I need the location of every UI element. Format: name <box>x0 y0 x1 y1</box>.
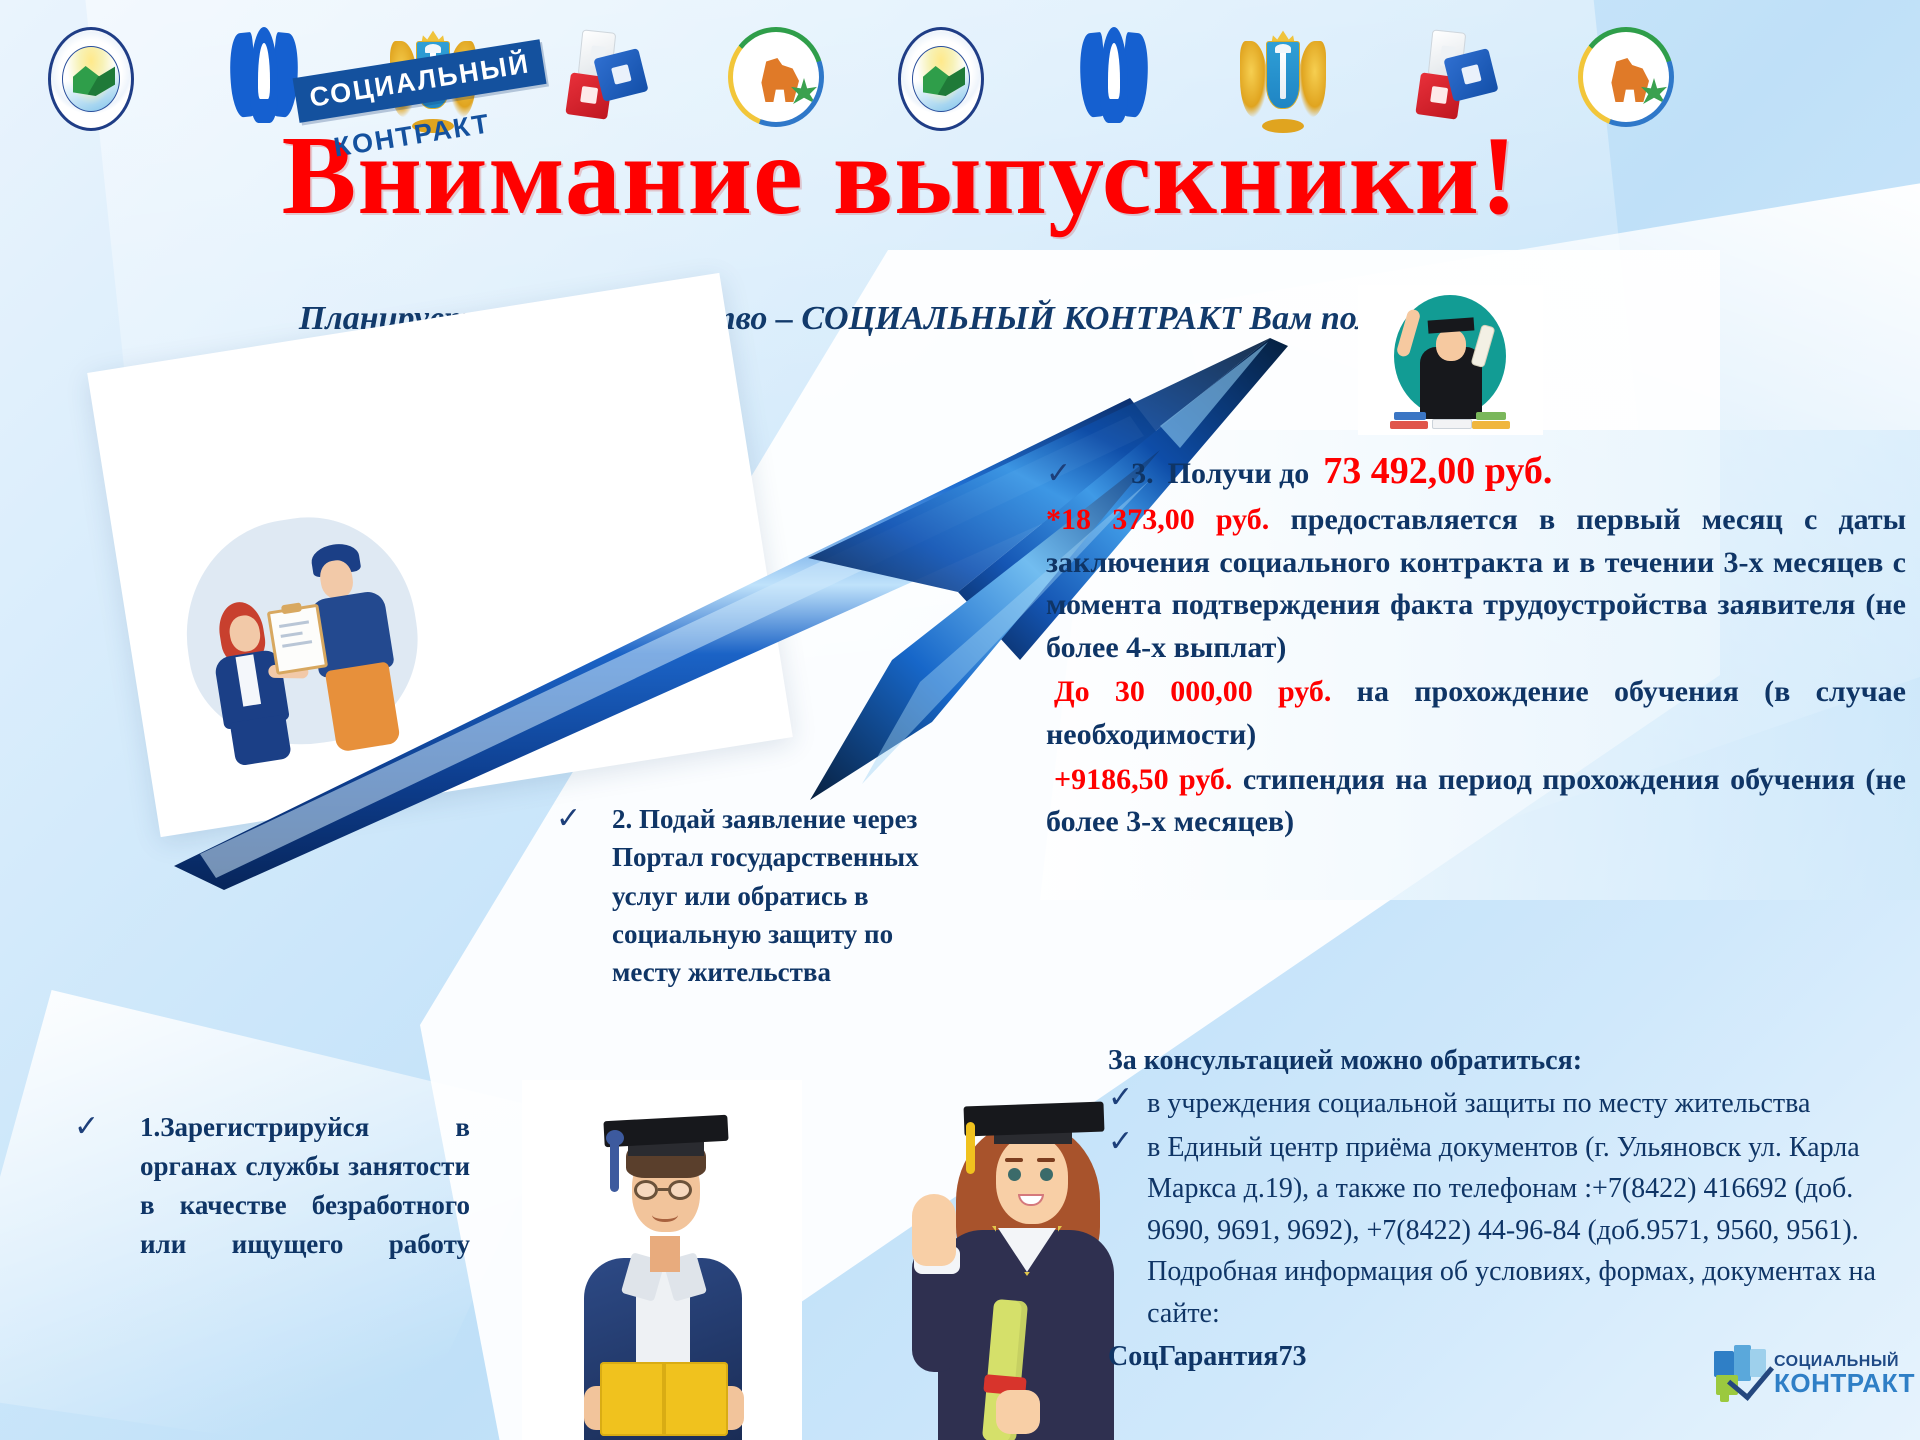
consultation-item-1-text: в учреждения социальной защиты по месту … <box>1147 1083 1898 1124</box>
step-2-check-icon: ✓ <box>556 804 581 834</box>
step-3-paragraph-3: +9186,50 руб. стипендия на период прохож… <box>1046 759 1906 844</box>
step-2-text: 2. Подай заявление через Портал государс… <box>612 804 919 987</box>
step-3-payment-block: ✓ 3. Получи до 73 492,00 руб. *18 373,00… <box>1046 445 1906 846</box>
step-1-check-icon: ✓ <box>74 1112 99 1142</box>
handshake-people-illustration <box>161 491 455 778</box>
page-title: Внимание выпускники! <box>0 118 1800 236</box>
social-contract-footer-logo: СОЦИАЛЬНЫЙ КОНТРАКТ <box>1712 1332 1908 1418</box>
poster-canvas: Внимание выпускники! Планируете трудоуст… <box>0 0 1920 1440</box>
social-contract-card-illustration <box>87 273 793 837</box>
step-3-paragraph-2: До 30 000,00 руб. на прохождение обучени… <box>1046 671 1906 756</box>
step-2-application-block: ✓ 2. Подай заявление через Портал госуда… <box>612 800 942 992</box>
step-3-amount-main: 73 492,00 руб. <box>1323 445 1552 499</box>
footer-logo-line-2: КОНТРАКТ <box>1774 1370 1915 1396</box>
consultation-item-1: ✓ в учреждения социальной защиты по мест… <box>1108 1083 1898 1124</box>
male-graduate-illustration <box>522 1080 802 1440</box>
step-1-registration-block: ✓ 1.Зарегистрируйся в органах службы зан… <box>140 1108 470 1265</box>
clipboard-icon <box>267 604 328 675</box>
graduate-celebration-illustration <box>1358 285 1543 435</box>
step-3-lead: Получи до <box>1168 453 1310 496</box>
consultation-item-2-text: в Единый центр приёма документов (г. Уль… <box>1147 1127 1898 1334</box>
step-3-amount-stipend: +9186,50 руб. <box>1054 763 1232 796</box>
step-3-check-icon: ✓ <box>1046 459 1071 489</box>
step-1-text: 1.Зарегистрируйся в органах службы занят… <box>140 1112 470 1259</box>
consultation-title: За консультацией можно обратиться: <box>1108 1040 1898 1081</box>
consultation-block: За консультацией можно обратиться: ✓ в у… <box>1108 1040 1898 1378</box>
step-3-amount-first-month: *18 373,00 руб. <box>1046 503 1269 536</box>
consultation-item-2: ✓ в Единый центр приёма документов (г. У… <box>1108 1127 1898 1334</box>
consultation-check-icon: ✓ <box>1108 1083 1133 1113</box>
step-3-paragraph-1: *18 373,00 руб. предоставляется в первый… <box>1046 499 1906 669</box>
step-3-number: 3. <box>1131 453 1154 496</box>
consultation-check-icon: ✓ <box>1108 1127 1133 1157</box>
step-3-amount-training: До 30 000,00 руб. <box>1054 675 1331 708</box>
social-contract-mark-icon <box>1712 1345 1766 1405</box>
